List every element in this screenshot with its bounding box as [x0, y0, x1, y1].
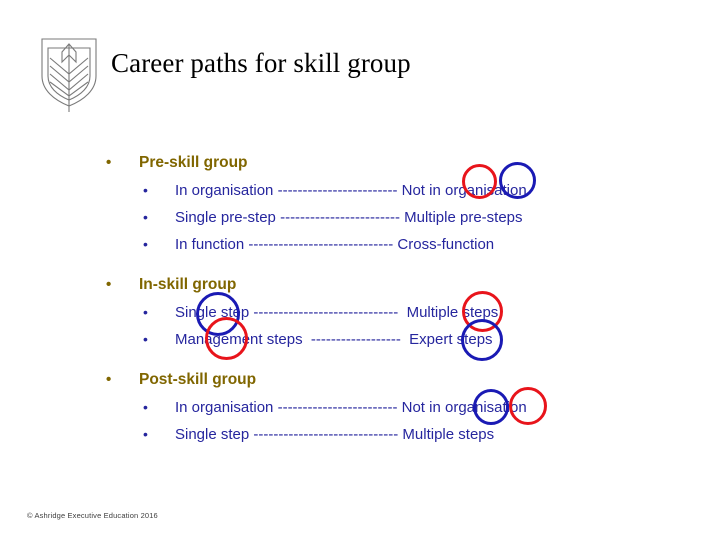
level2-bullet-icon: • [143, 177, 175, 203]
circle-post-not-in [473, 389, 509, 425]
skill-group: •In-skill group•Single step ------------… [106, 272, 666, 353]
circle-in-expert-steps [461, 319, 503, 361]
path-connector-dashes: ----------------------------- [249, 300, 402, 326]
circle-in-management [205, 317, 248, 360]
career-path-row: •Single step ---------------------------… [106, 299, 666, 326]
page-title: Career paths for skill group [111, 46, 411, 80]
skill-group: •Post-skill group•In organisation ------… [106, 367, 666, 448]
content-body: •Pre-skill group•In organisation -------… [106, 150, 666, 448]
path-left-label: Single pre-step [175, 205, 276, 231]
copyright-footer: © Ashridge Executive Education 2016 [27, 511, 158, 520]
level1-bullet-icon: • [106, 367, 139, 392]
path-connector-dashes: ----------------------------- [249, 422, 402, 448]
level1-bullet-icon: • [106, 272, 139, 297]
path-connector-dashes: ------------------------ [273, 395, 401, 421]
path-connector-dashes: ----------------------------- [244, 232, 397, 258]
career-path-row: •Single pre-step -----------------------… [106, 204, 666, 231]
level2-bullet-icon: • [143, 326, 175, 352]
path-right-label: Multiple steps [402, 422, 494, 448]
path-connector-dashes: ------------------------ [276, 205, 404, 231]
circle-pre-not-in [462, 164, 497, 199]
path-left-label: In organisation [175, 178, 273, 204]
skill-group: •Pre-skill group•In organisation -------… [106, 150, 666, 258]
logo-shield-icon [38, 36, 100, 112]
path-connector-dashes: ------------------ [303, 327, 405, 353]
career-path-row: •Management steps ------------------ Exp… [106, 326, 666, 353]
level2-bullet-icon: • [143, 299, 175, 325]
level2-bullet-icon: • [143, 394, 175, 420]
level2-bullet-icon: • [143, 231, 175, 257]
path-left-label: In organisation [175, 395, 273, 421]
career-path-row: •In organisation -----------------------… [106, 177, 666, 204]
path-left-label: In function [175, 232, 244, 258]
career-path-row: •In organisation -----------------------… [106, 394, 666, 421]
group-heading: •Post-skill group [106, 367, 666, 392]
level2-bullet-icon: • [143, 421, 175, 447]
path-left-label: Single step [175, 422, 249, 448]
circle-pre-organisation [499, 162, 536, 199]
career-path-row: •In function ---------------------------… [106, 231, 666, 258]
ashridge-shield-wheat-logo [38, 36, 100, 112]
level2-bullet-icon: • [143, 204, 175, 230]
circle-post-organisation [509, 387, 547, 425]
path-right-label: Multiple pre-steps [404, 205, 522, 231]
path-right-label: Cross-function [397, 232, 494, 258]
career-path-row: •Single step ---------------------------… [106, 421, 666, 448]
group-heading: •Pre-skill group [106, 150, 666, 175]
level1-bullet-icon: • [106, 150, 139, 175]
group-heading: •In-skill group [106, 272, 666, 297]
path-connector-dashes: ------------------------ [273, 178, 401, 204]
group-heading-label: Post-skill group [139, 367, 256, 392]
group-heading-label: Pre-skill group [139, 150, 248, 175]
